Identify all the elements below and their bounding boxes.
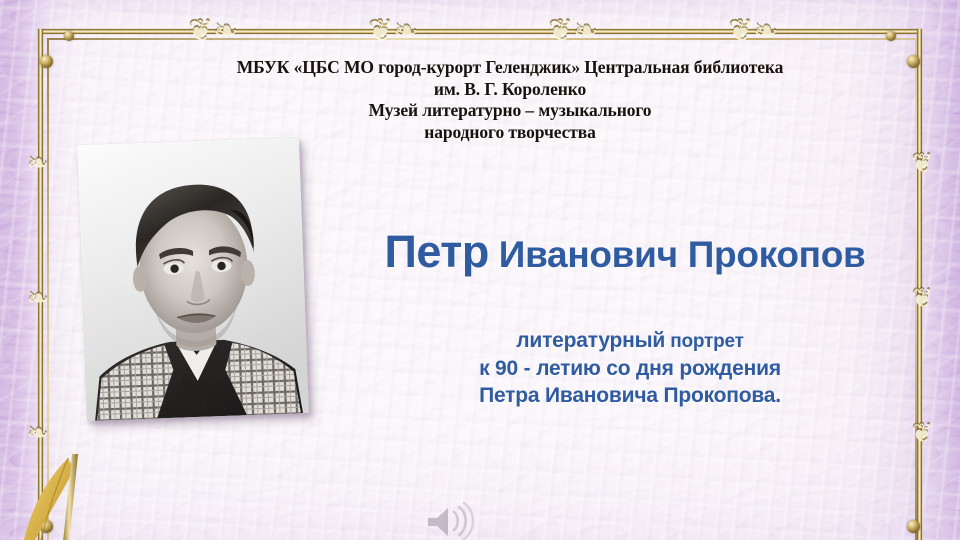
subtitle-line-3: Петра Ивановича Прокопова.: [330, 382, 930, 409]
subtitle-line-1-rest: портрет: [665, 331, 744, 352]
subtitle-line-2: к 90 - летию со дня рождения: [330, 355, 930, 382]
subtitle-line-1: литературный портрет: [330, 327, 930, 355]
subtitle-line-1-strong: литературный: [516, 329, 665, 352]
header-line-3: Музей литературно – музыкального: [150, 100, 870, 122]
speaker-icon[interactable]: [424, 502, 476, 540]
presentation-slide: ❦❧ ❦❧ ❦❧ ❦❧ ❦❧ ❦❧ ❦❧ ❦❧ ❧ ❧ ❧ ❦ ❦ ❦ МБУК…: [0, 0, 960, 540]
subtitle: литературный портрет к 90 - летию со дня…: [330, 327, 930, 409]
page-title: Петр Иванович Прокопов: [320, 226, 930, 278]
title-first-word: Петр: [385, 226, 489, 277]
header-line-1: МБУК «ЦБС МО город-курорт Геленджик» Цен…: [150, 57, 870, 79]
header-line-2: им. В. Г. Короленко: [150, 79, 870, 101]
institution-header: МБУК «ЦБС МО город-курорт Геленджик» Цен…: [150, 57, 870, 143]
title-rest: Иванович Прокопов: [489, 234, 866, 275]
portrait-photo: [77, 137, 309, 421]
